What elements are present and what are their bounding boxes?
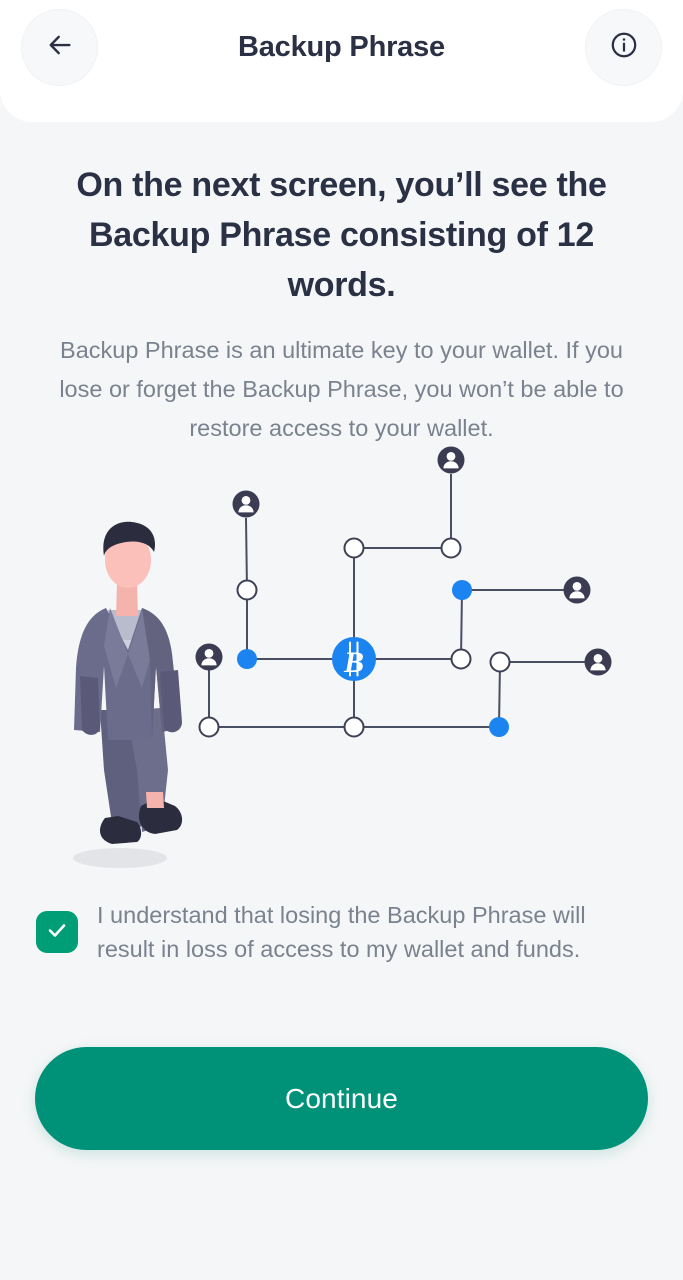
- bitcoin-network-illustration: B: [0, 440, 683, 880]
- backup-phrase-screen: Backup Phrase On the next screen, you’ll…: [0, 0, 683, 1280]
- description-text: Backup Phrase is an ultimate key to your…: [38, 331, 645, 448]
- network-edges: [209, 474, 591, 727]
- info-button[interactable]: [585, 9, 662, 86]
- check-icon: [45, 918, 69, 947]
- svg-text:B: B: [343, 646, 364, 679]
- consent-label: I understand that losing the Backup Phra…: [97, 898, 646, 966]
- network-node-person: [196, 447, 612, 676]
- consent-checkbox[interactable]: [36, 911, 78, 953]
- info-circle-icon: [608, 29, 640, 66]
- consent-row[interactable]: I understand that losing the Backup Phra…: [36, 898, 646, 966]
- continue-button[interactable]: Continue: [35, 1047, 648, 1150]
- app-header: Backup Phrase: [0, 0, 683, 122]
- bitcoin-node-icon: B: [332, 637, 376, 681]
- businessman-illustration: [73, 522, 182, 868]
- page-title: Backup Phrase: [0, 0, 683, 95]
- headline: On the next screen, you’ll see the Backu…: [42, 160, 641, 310]
